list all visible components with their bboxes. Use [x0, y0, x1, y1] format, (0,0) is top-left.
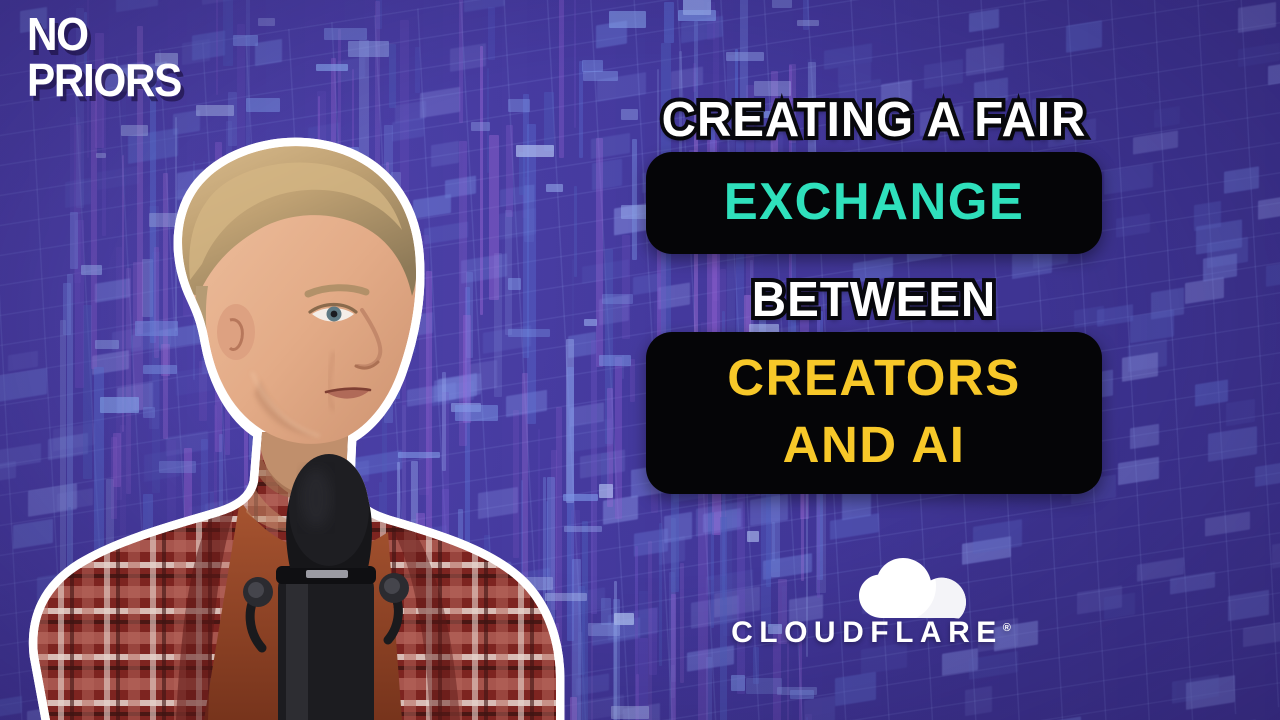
- title-line-4: CREATORS: [656, 352, 1092, 403]
- guest-photo-cutout: [0, 80, 580, 720]
- cloudflare-wordmark: CLOUDFLARE®: [716, 616, 1026, 650]
- trademark-symbol: ®: [1003, 622, 1011, 634]
- thumbnail-canvas: NO PRIORS: [0, 0, 1280, 720]
- cloud-icon: [856, 558, 974, 620]
- logo-line-2: PRIORS: [27, 58, 181, 102]
- title-line-1: CREATING A FAIR: [585, 96, 1163, 146]
- logo-line-1: NO: [27, 12, 181, 56]
- no-priors-logo: NO PRIORS: [27, 12, 181, 102]
- cloudflare-logo: CLOUDFLARE®: [716, 560, 1026, 670]
- exchange-chip: EXCHANGE: [646, 152, 1102, 254]
- title-line-3: BETWEEN: [585, 276, 1163, 326]
- cloudflare-name: CLOUDFLARE: [731, 616, 1003, 649]
- creators-chip: CREATORS AND AI: [646, 332, 1102, 494]
- title-line-2: EXCHANGE: [660, 176, 1087, 228]
- title-block: CREATING A FAIR EXCHANGE BETWEEN CREATOR…: [576, 96, 1172, 494]
- title-line-5: AND AI: [656, 419, 1092, 470]
